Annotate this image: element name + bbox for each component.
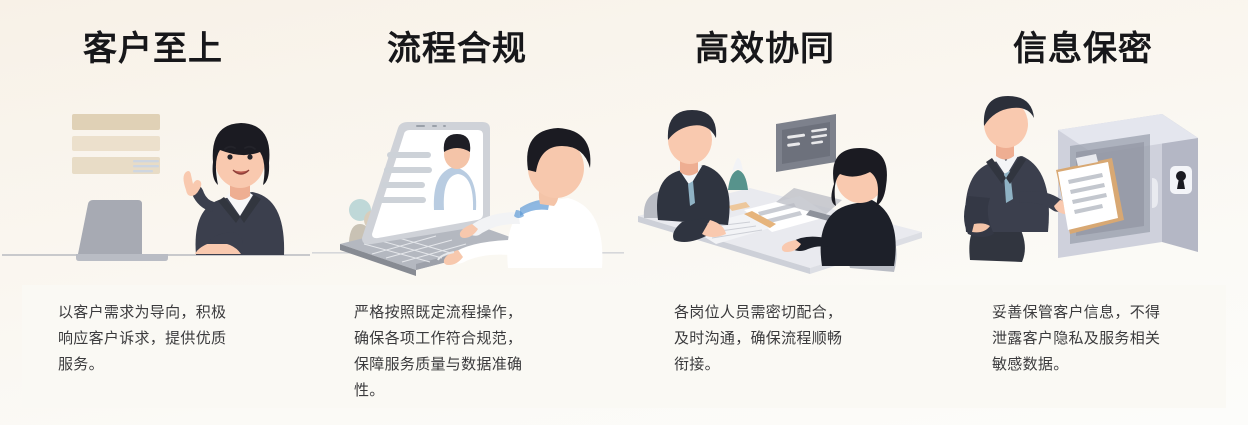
card-caption: 各岗位人员需密切配合， 及时沟通，确保流程顺畅 衔接。 [624,300,936,378]
card-caption: 以客户需求为导向，积极 响应客户诉求，提供优质 服务。 [0,300,312,378]
card-title: 高效协同 [624,27,936,71]
card-caption: 妥善保管客户信息，不得 泄露客户隐私及服务相关 敏感数据。 [936,300,1248,378]
cards-row: 客户至上 [0,0,1248,425]
card-title: 客户至上 [0,27,312,71]
value-cards-board: 客户至上 [0,0,1248,425]
card-customer-first[interactable]: 客户至上 [0,0,312,425]
card-title: 信息保密 [936,27,1248,71]
card-process-compliance[interactable]: 流程合规 [312,0,624,425]
card-information-confidentiality[interactable]: 信息保密 [936,0,1248,425]
card-title: 流程合规 [312,27,624,71]
card-efficient-collaboration[interactable]: 高效协同 [624,0,936,425]
illustration-man-working-on-laptop-video-call [312,92,624,282]
card-caption: 严格按照既定流程操作， 确保各项工作符合规范， 保障服务质量与数据准确 性。 [312,300,624,404]
illustration-man-with-clipboard-beside-locked-cabinet [936,92,1248,282]
illustration-woman-at-desk-with-laptop-waving [0,92,312,282]
illustration-two-colleagues-meeting-at-table-with-monitor [624,92,936,282]
